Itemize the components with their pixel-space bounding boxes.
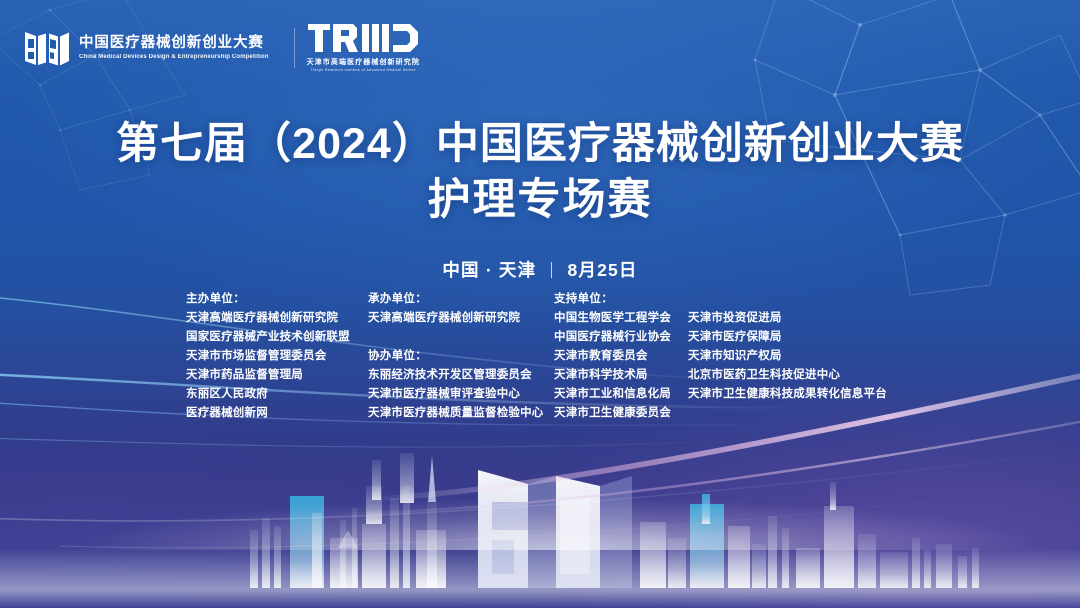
support-item: 中国医疗器械行业协会	[554, 328, 688, 347]
organizer-column-support-a: 支持单位： 中国生物医学工程学会 中国医疗器械行业协会 天津市教育委员会 天津市…	[554, 290, 688, 423]
title-line-2: 护理专场赛	[0, 174, 1080, 226]
support-item: 天津市投资促进局	[688, 309, 887, 328]
event-poster: 中国医疗器械创新创业大赛 China Medical Devices Desig…	[0, 0, 1080, 608]
header-logos: 中国医疗器械创新创业大赛 China Medical Devices Desig…	[24, 24, 420, 72]
event-location: 中国 · 天津	[442, 260, 536, 280]
host-item: 东丽区人民政府	[186, 385, 368, 404]
support-b-spacer	[688, 290, 887, 309]
support-item: 天津市教育委员会	[554, 347, 688, 366]
organizer-column-host: 主办单位： 天津高端医疗器械创新研究院 国家医疗器械产业技术创新联盟 天津市市场…	[186, 290, 368, 423]
host-heading: 主办单位：	[186, 290, 368, 309]
host-item: 天津市药品监督管理局	[186, 366, 368, 385]
host-item: 国家医疗器械产业技术创新联盟	[186, 328, 368, 347]
competition-logo-text: 中国医疗器械创新创业大赛 China Medical Devices Desig…	[79, 36, 269, 61]
support-item: 天津市医疗保障局	[688, 328, 887, 347]
support-item: 天津市知识产权局	[688, 347, 887, 366]
organizer-item: 天津高端医疗器械创新研究院	[368, 309, 554, 328]
co-organizer-item: 天津市医疗器械审评查验中心	[368, 385, 554, 404]
organizer-columns: 主办单位： 天津高端医疗器械创新研究院 国家医疗器械产业技术创新联盟 天津市市场…	[186, 290, 926, 423]
institute-name-cn: 天津市高端医疗器械创新研究院	[307, 59, 420, 66]
organizer-column-support-b: 天津市投资促进局 天津市医疗保障局 天津市知识产权局 北京市医药卫生科技促进中心…	[688, 290, 887, 404]
host-item: 医疗器械创新网	[186, 404, 368, 423]
support-item: 天津市科学技术局	[554, 366, 688, 385]
co-organizer-item: 东丽经济技术开发区管理委员会	[368, 366, 554, 385]
support-item: 天津市卫生健康科技成果转化信息平台	[688, 385, 887, 404]
support-item: 北京市医药卫生科技促进中心	[688, 366, 887, 385]
competition-name-en: China Medical Devices Design & Entrepren…	[79, 54, 269, 60]
host-item: 天津高端医疗器械创新研究院	[186, 309, 368, 328]
co-organizer-heading: 协办单位：	[368, 347, 554, 366]
support-heading: 支持单位：	[554, 290, 688, 309]
support-item: 中国生物医学工程学会	[554, 309, 688, 328]
support-item: 天津市工业和信息化局	[554, 385, 688, 404]
host-item: 天津市市场监督管理委员会	[186, 347, 368, 366]
competition-logo[interactable]: 中国医疗器械创新创业大赛 China Medical Devices Desig…	[24, 27, 282, 69]
poster-title: 第七届（2024）中国医疗器械创新创业大赛 护理专场赛	[0, 118, 1080, 227]
institute-name-en: Tianjin Research Institute of Advanced M…	[311, 69, 416, 73]
competition-name-cn: 中国医疗器械创新创业大赛	[79, 36, 269, 51]
event-meta: 中国 · 天津 8月25日	[0, 257, 1080, 282]
event-date: 8月25日	[567, 260, 637, 280]
logo-divider	[294, 28, 295, 68]
open-door-logo-icon	[24, 27, 70, 69]
trmd-wordmark-icon	[308, 24, 418, 54]
title-line-1: 第七届（2024）中国医疗器械创新创业大赛	[0, 118, 1080, 170]
organizer-spacer	[368, 328, 554, 347]
support-item: 天津市卫生健康委员会	[554, 404, 688, 423]
organizer-heading: 承办单位：	[368, 290, 554, 309]
meta-separator	[551, 262, 552, 278]
co-organizer-item: 天津市医疗器械质量监督检验中心	[368, 404, 554, 423]
organizer-column-organizer: 承办单位： 天津高端医疗器械创新研究院 协办单位： 东丽经济技术开发区管理委员会…	[368, 290, 554, 423]
institute-logo[interactable]: 天津市高端医疗器械创新研究院 Tianjin Research Institut…	[307, 24, 420, 72]
